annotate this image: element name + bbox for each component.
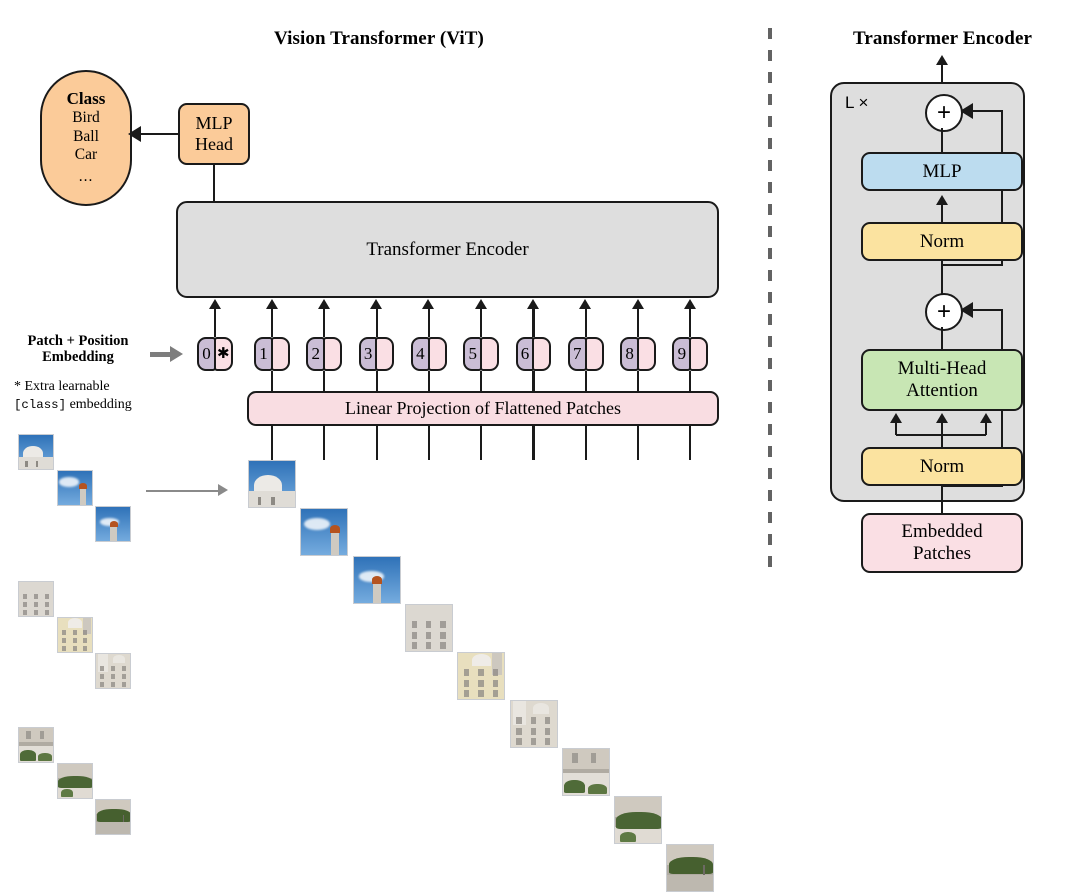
sequence-patch xyxy=(248,460,296,508)
up-arrow-icon xyxy=(209,299,221,309)
embedded-patches-line1: Embedded xyxy=(901,521,982,543)
token-to-encoder-line xyxy=(214,308,216,337)
patch-position-token: 4 xyxy=(411,337,447,371)
mlp-block-label: MLP xyxy=(922,161,961,183)
sequence-patch xyxy=(405,604,453,652)
patch-to-projection-line xyxy=(271,426,273,460)
up-arrow-icon xyxy=(632,299,644,309)
up-arrow-icon xyxy=(475,299,487,309)
mlp-to-class-line xyxy=(141,133,179,135)
patch-to-projection-line xyxy=(637,426,639,460)
extra-learnable-line1: * Extra learnable xyxy=(14,378,184,396)
class-token-star-pill: ✱ xyxy=(214,337,233,371)
token-embedding-pill xyxy=(480,337,499,371)
plus-to-attention-line xyxy=(941,327,943,350)
sequence-patch xyxy=(614,796,662,844)
transformer-encoder-box: Transformer Encoder xyxy=(176,201,719,298)
token-embedding-pill xyxy=(323,337,342,371)
sequence-patch xyxy=(562,748,610,796)
up-arrow-icon xyxy=(318,299,330,309)
up-arrow-icon xyxy=(266,299,278,309)
patch-position-token: 5 xyxy=(463,337,499,371)
norm-bottom-to-fanout-line xyxy=(941,434,943,448)
token-embedding-pill xyxy=(689,337,708,371)
multi-head-attention-block: Multi-Head Attention xyxy=(861,349,1023,411)
projection-to-token-line xyxy=(323,371,325,391)
attention-label-line1: Multi-Head xyxy=(898,358,987,380)
class-item-bird: Bird xyxy=(72,109,100,127)
dashed-divider-icon xyxy=(768,28,772,573)
embedded-patches-line2: Patches xyxy=(913,543,971,565)
patch-to-projection-line xyxy=(376,426,378,460)
token-to-encoder-line xyxy=(585,308,587,337)
token-to-encoder-line xyxy=(271,308,273,337)
repeat-count-label: L × xyxy=(845,93,868,113)
add-symbol-bottom: + xyxy=(937,300,951,324)
patch-position-token: 0✱ xyxy=(197,337,233,371)
source-patch xyxy=(95,653,131,689)
patch-to-projection-line xyxy=(428,426,430,460)
norm-block-top: Norm xyxy=(861,222,1023,261)
patch-position-token: 2 xyxy=(306,337,342,371)
extra-learnable-line2-rest: embedding xyxy=(66,397,132,412)
mlp-block: MLP xyxy=(861,152,1023,191)
mlp-head-box: MLP Head xyxy=(178,103,250,165)
class-heading: Class xyxy=(67,89,106,109)
norm-top-label: Norm xyxy=(920,231,964,253)
source-patch xyxy=(18,434,54,470)
token-embedding-pill xyxy=(637,337,656,371)
patch-position-token: 1 xyxy=(254,337,290,371)
patch-to-projection-line xyxy=(532,426,534,460)
add-symbol-top: + xyxy=(937,101,951,125)
mlp-residual-top xyxy=(972,110,1003,112)
token-embedding-pill xyxy=(375,337,394,371)
source-patch xyxy=(57,470,93,506)
patch-position-embedding-label: Patch + Position Embedding xyxy=(8,333,148,365)
token-to-encoder-line xyxy=(323,308,325,337)
class-ellipsis: ... xyxy=(79,168,94,186)
mlp-head-to-encoder-line xyxy=(213,165,215,201)
projection-to-token-line xyxy=(585,371,587,391)
linear-projection-box: Linear Projection of Flattened Patches xyxy=(247,391,719,426)
token-to-encoder-line xyxy=(480,308,482,337)
up-arrow-icon xyxy=(890,413,902,423)
class-output-pill: Class Bird Ball Car ... xyxy=(40,70,132,206)
token-to-encoder-line xyxy=(689,308,691,337)
attn-residual-top xyxy=(972,309,1003,311)
qkv-stem-k xyxy=(941,421,943,435)
projection-to-token-line xyxy=(480,371,482,391)
sequence-patch xyxy=(457,652,505,700)
projection-to-token-line xyxy=(689,371,691,391)
up-arrow-icon xyxy=(527,299,539,309)
sequence-patch xyxy=(510,700,558,748)
sequence-patch xyxy=(666,844,714,892)
up-arrow-icon xyxy=(936,413,948,423)
grid-to-sequence-arrow-body xyxy=(146,490,220,492)
embedded-patches-block: Embedded Patches xyxy=(861,513,1023,573)
patch-position-token: 8 xyxy=(620,337,656,371)
source-patch xyxy=(18,581,54,617)
sequence-patch xyxy=(300,508,348,556)
source-patch xyxy=(57,617,93,653)
embedding-arrow-head-icon xyxy=(170,346,183,362)
token-embedding-pill xyxy=(532,337,551,371)
token-to-encoder-line xyxy=(376,308,378,337)
grid-to-sequence-arrow-head-icon xyxy=(218,484,228,496)
plus-to-mlp-line xyxy=(941,128,943,153)
up-arrow-icon xyxy=(936,195,948,205)
source-patch xyxy=(95,506,131,542)
input-image-patch-grid xyxy=(18,434,134,550)
encoder-panel-title: Transformer Encoder xyxy=(810,28,1075,50)
embedding-label-line1: Patch + Position xyxy=(8,333,148,349)
embedded-patches-to-norm-line xyxy=(941,486,943,514)
up-arrow-icon xyxy=(370,299,382,309)
class-token-mono: [class] xyxy=(14,398,66,412)
vit-title: Vision Transformer (ViT) xyxy=(189,28,569,50)
projection-to-token-line xyxy=(532,371,534,391)
up-arrow-icon xyxy=(936,55,948,65)
projection-to-token-line xyxy=(271,371,273,391)
class-item-car: Car xyxy=(75,146,97,164)
linear-projection-label: Linear Projection of Flattened Patches xyxy=(345,398,621,419)
qkv-stem-v xyxy=(985,421,987,435)
extra-learnable-note: * Extra learnable [class] embedding xyxy=(14,378,184,413)
token-to-encoder-line xyxy=(428,308,430,337)
mlp-head-label-line1: MLP xyxy=(195,113,232,134)
sequence-patch xyxy=(353,556,401,604)
patch-position-token: 6 xyxy=(516,337,552,371)
up-arrow-icon xyxy=(579,299,591,309)
plus-circle-icon: + xyxy=(925,94,963,132)
patch-to-projection-line xyxy=(323,426,325,460)
patch-position-token: 7 xyxy=(568,337,604,371)
attention-label-line2: Attention xyxy=(906,380,978,402)
norm-bottom-label: Norm xyxy=(920,456,964,478)
token-to-encoder-line xyxy=(637,308,639,337)
class-item-ball: Ball xyxy=(73,128,99,146)
patch-to-projection-line xyxy=(480,426,482,460)
token-embedding-pill xyxy=(271,337,290,371)
transformer-encoder-label: Transformer Encoder xyxy=(366,239,528,261)
left-arrow-icon xyxy=(128,126,141,142)
up-arrow-icon xyxy=(980,413,992,423)
qkv-stem-q xyxy=(895,421,897,435)
source-patch xyxy=(95,799,131,835)
source-patch xyxy=(18,727,54,763)
patch-to-projection-line xyxy=(689,426,691,460)
encoder-block-panel xyxy=(830,82,1025,502)
token-to-encoder-line xyxy=(532,308,534,337)
up-arrow-icon xyxy=(422,299,434,309)
patch-to-projection-line xyxy=(585,426,587,460)
token-index-pill: 7 xyxy=(568,337,587,371)
token-embedding-pill xyxy=(585,337,604,371)
mlp-residual-bottom xyxy=(941,264,1003,266)
token-embedding-pill xyxy=(428,337,447,371)
embedding-label-line2: Embedding xyxy=(8,349,148,365)
embedding-arrow-body xyxy=(150,352,172,357)
norm-block-bottom: Norm xyxy=(861,447,1023,486)
plus-circle-icon: + xyxy=(925,293,963,331)
up-arrow-icon xyxy=(684,299,696,309)
mlp-head-label-line2: Head xyxy=(195,134,233,155)
patch-position-token: 3 xyxy=(359,337,395,371)
norm-top-input-line xyxy=(941,261,943,294)
projection-to-token-line xyxy=(376,371,378,391)
source-patch xyxy=(57,763,93,799)
norm-top-to-mlp-line xyxy=(941,203,943,223)
patch-position-token: 9 xyxy=(672,337,708,371)
projection-to-token-line xyxy=(428,371,430,391)
projection-to-token-line xyxy=(637,371,639,391)
